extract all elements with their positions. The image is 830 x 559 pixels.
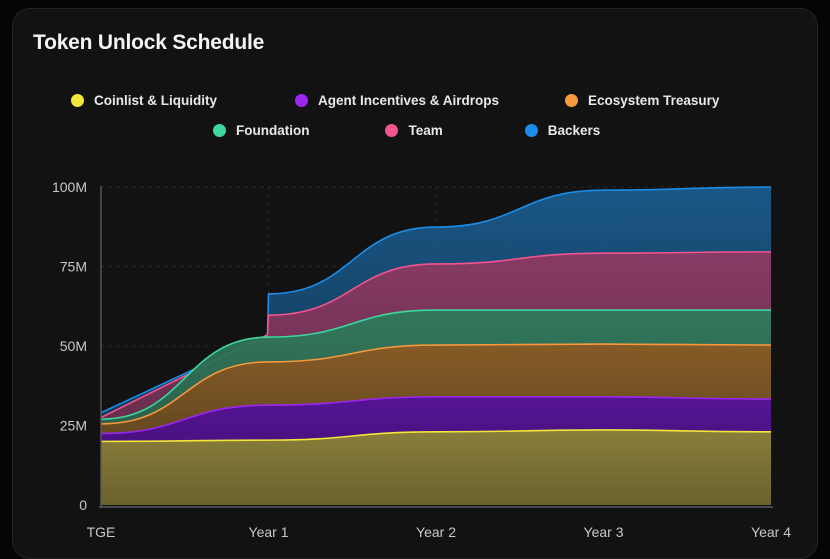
- y-axis-tick-label: 25M: [60, 418, 87, 434]
- y-axis-tick-label: 75M: [60, 259, 87, 275]
- chart-card: Token Unlock Schedule Coinlist & Liquidi…: [12, 8, 818, 559]
- x-axis-tick-label: Year 2: [416, 524, 456, 540]
- area-chart-svg: 025M50M75M100MTGEYear 1Year 2Year 3Year …: [13, 9, 818, 559]
- y-axis-tick-label: 0: [79, 497, 87, 513]
- y-axis-tick-label: 100M: [52, 179, 87, 195]
- x-axis-tick-label: Year 1: [249, 524, 289, 540]
- x-axis-tick-label: TGE: [87, 524, 116, 540]
- y-axis-tick-label: 50M: [60, 338, 87, 354]
- x-axis-tick-label: Year 4: [751, 524, 791, 540]
- chart-plot-area[interactable]: 025M50M75M100MTGEYear 1Year 2Year 3Year …: [13, 9, 818, 559]
- x-axis-tick-label: Year 3: [584, 524, 624, 540]
